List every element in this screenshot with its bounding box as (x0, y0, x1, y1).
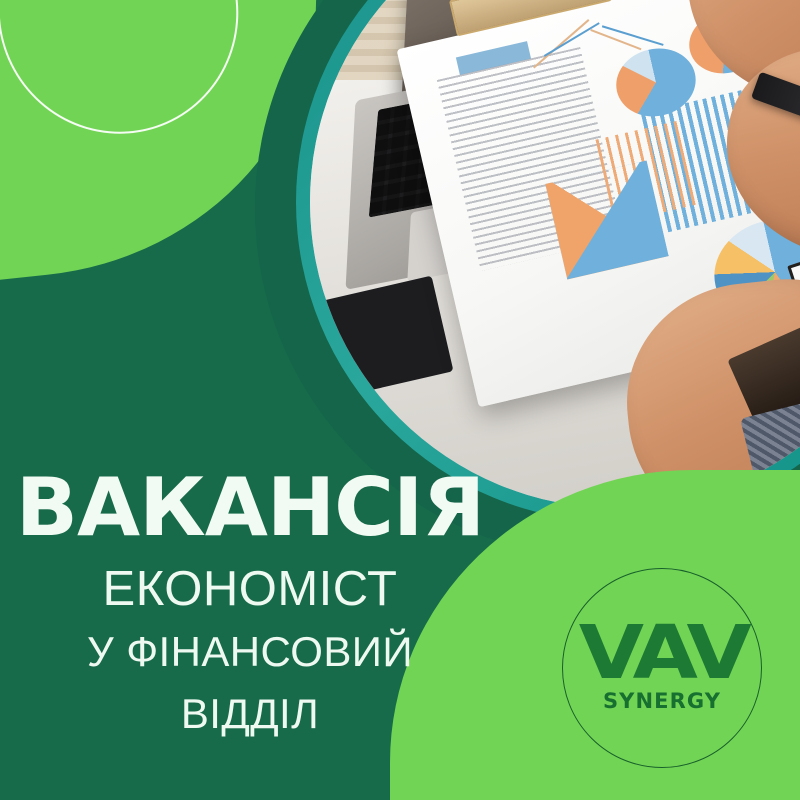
department-line-2: ВІДДІЛ (0, 689, 500, 739)
company-logo[interactable]: VAV SYNERGY (562, 568, 762, 768)
vacancy-poster: VAV SYNERGY ВАКАНСІЯ ЕКОНОМІСТ У ФІНАНСО… (0, 0, 800, 800)
photo-circle (310, 0, 800, 508)
poster-copy: ВАКАНСІЯ ЕКОНОМІСТ У ФІНАНСОВИЙ ВІДДІЛ (0, 468, 500, 739)
business-analytics-photo (310, 0, 800, 508)
logo-wordmark: VAV (578, 623, 745, 684)
position-title: ЕКОНОМІСТ (0, 564, 500, 615)
page-title: ВАКАНСІЯ (0, 468, 505, 548)
department-line-1: У ФІНАНСОВИЙ (0, 627, 500, 677)
